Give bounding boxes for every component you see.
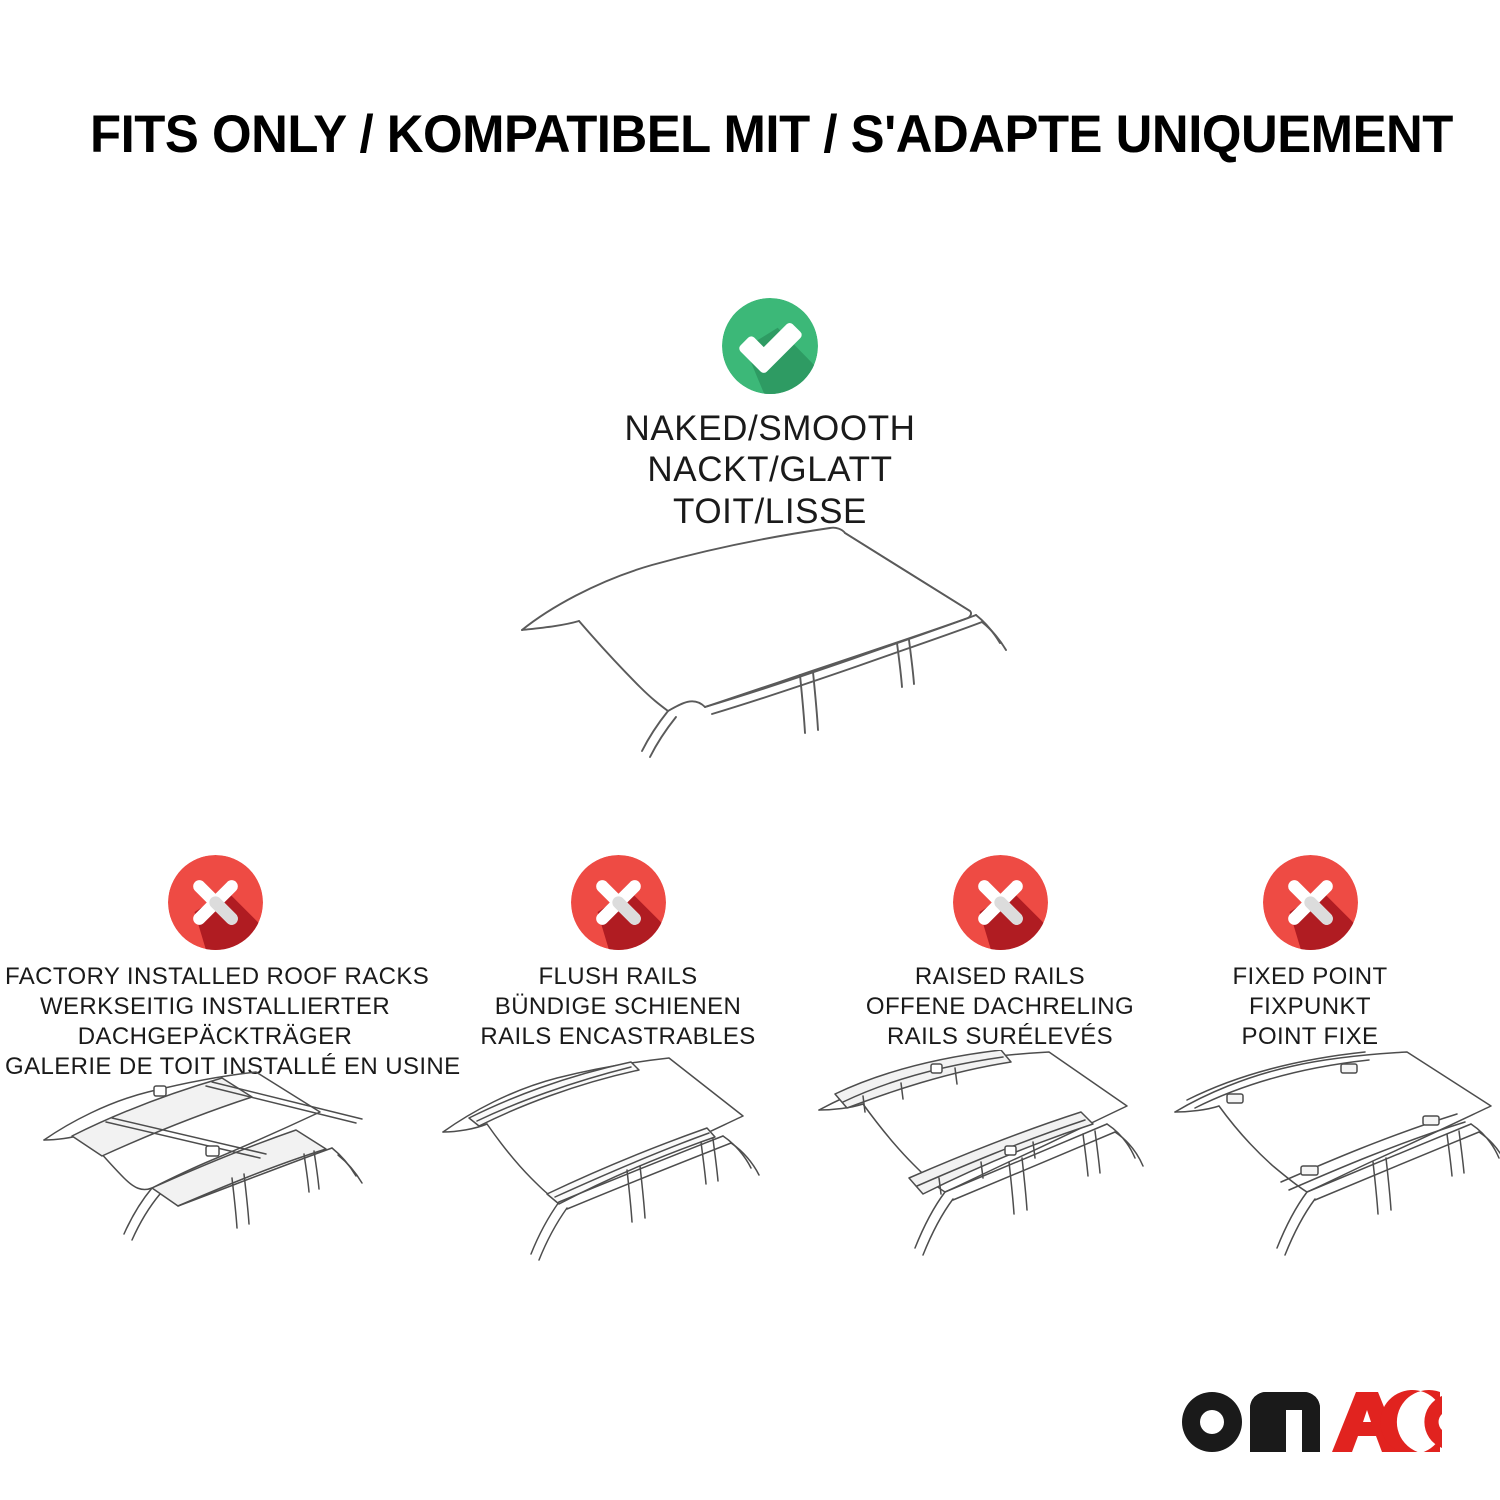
compatible-fitment-block: NAKED/SMOOTH NACKT/GLATT TOIT/LISSE [470,298,1070,532]
incompatible-fitment-block-factory-rack: FACTORY INSTALLED ROOF RACKS WERKSEITIG … [5,855,425,1082]
x-circle-icon [953,855,1048,950]
x-circle-icon [1263,855,1358,950]
caption-line-de: NACKT/GLATT [470,449,1070,490]
raised-rails-roof-illustration [805,1050,1205,1280]
factory-roof-rack-illustration [20,1050,420,1280]
incompatible-fitment-block-fixed-point: FIXED POINT FIXPUNKT POINT FIXE [1100,855,1500,1052]
omac-logo [1182,1390,1442,1452]
bare-smooth-roof-illustration [500,515,1030,815]
caption-line-de-1: WERKSEITIG INSTALLIERTER [5,992,425,1022]
x-circle-icon [168,855,263,950]
caption-line-en: FIXED POINT [1100,962,1500,992]
incompatible-fitment-block-flush-rails: FLUSH RAILS BÜNDIGE SCHIENEN RAILS ENCAS… [408,855,828,1052]
caption-line-en: NAKED/SMOOTH [470,408,1070,449]
check-circle-icon [722,298,818,394]
compatible-caption: NAKED/SMOOTH NACKT/GLATT TOIT/LISSE [470,408,1070,532]
caption-line-en: FACTORY INSTALLED ROOF RACKS [5,962,425,992]
caption-line-de-2: DACHGEPÄCKTRÄGER [5,1022,425,1052]
caption-line-de: FIXPUNKT [1100,992,1500,1022]
flush-rails-roof-illustration [425,1050,825,1280]
caption-line-en: FLUSH RAILS [408,962,828,992]
caption-line-de: BÜNDIGE SCHIENEN [408,992,828,1022]
page-title: FITS ONLY / KOMPATIBEL MIT / S'ADAPTE UN… [90,104,1453,165]
caption-line-fr: RAILS ENCASTRABLES [408,1022,828,1052]
fixed-point-roof-illustration [1165,1050,1500,1280]
x-circle-icon [571,855,666,950]
incompatible-caption-flush-rails: FLUSH RAILS BÜNDIGE SCHIENEN RAILS ENCAS… [408,962,828,1052]
caption-line-fr: POINT FIXE [1100,1022,1500,1052]
incompatible-caption-fixed-point: FIXED POINT FIXPUNKT POINT FIXE [1100,962,1500,1052]
